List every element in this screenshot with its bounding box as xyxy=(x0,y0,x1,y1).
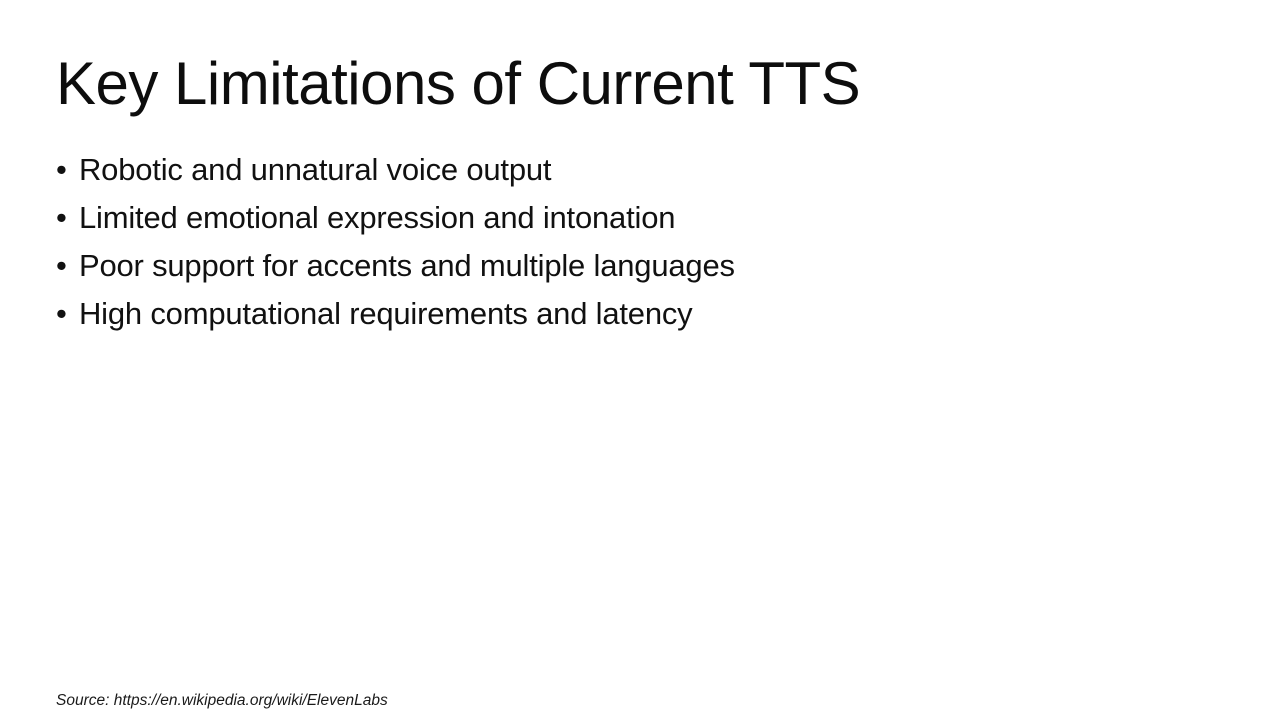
list-item-label: Robotic and unnatural voice output xyxy=(79,146,551,194)
bullet-list: • Robotic and unnatural voice output • L… xyxy=(56,146,1196,338)
page-title: Key Limitations of Current TTS xyxy=(56,52,1156,117)
list-item-label: Poor support for accents and multiple la… xyxy=(79,242,735,290)
bullet-dot-icon: • xyxy=(56,146,79,194)
list-item: • Limited emotional expression and inton… xyxy=(56,194,1196,242)
list-item: • Robotic and unnatural voice output xyxy=(56,146,1196,194)
list-item-label: High computational requirements and late… xyxy=(79,290,692,338)
bullet-dot-icon: • xyxy=(56,242,79,290)
slide-canvas: Key Limitations of Current TTS • Robotic… xyxy=(0,0,1280,720)
source-citation: Source: https://en.wikipedia.org/wiki/El… xyxy=(56,691,388,711)
list-item: • High computational requirements and la… xyxy=(56,290,1196,338)
list-item: • Poor support for accents and multiple … xyxy=(56,242,1196,290)
list-item-label: Limited emotional expression and intonat… xyxy=(79,194,675,242)
bullet-dot-icon: • xyxy=(56,194,79,242)
bullet-dot-icon: • xyxy=(56,290,79,338)
